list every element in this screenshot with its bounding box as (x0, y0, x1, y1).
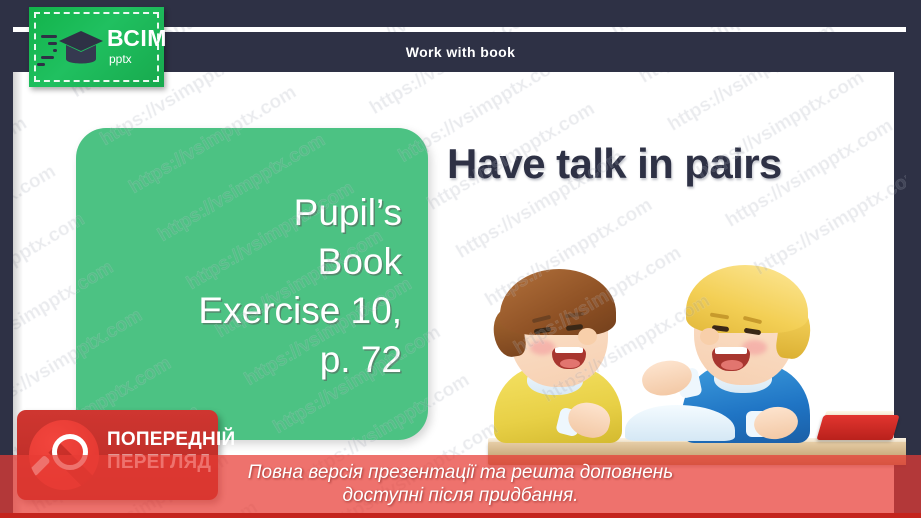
book-cover (816, 415, 899, 440)
boy-left-brown-hair (480, 243, 640, 443)
boy-left-hair (500, 269, 616, 335)
frame-right-border (906, 0, 921, 518)
vsimpptx-logo[interactable]: ВСІМ pptx (29, 7, 164, 87)
boy-right-hair (686, 265, 808, 333)
frame-left-border (0, 0, 13, 518)
boy-right-nose (700, 328, 719, 345)
illustration-two-boys (470, 240, 921, 465)
preview-badge-line-1: ПОПЕРЕДНІЙ (107, 428, 235, 451)
boy-right-tongue (721, 360, 743, 370)
slide-headline: Have talk in pairs (447, 140, 909, 188)
banner-line-2: доступні після придбання. (248, 484, 673, 507)
purchase-banner-text: Повна версія презентації та решта доповн… (248, 461, 673, 507)
purchase-banner: Повна версія презентації та решта доповн… (0, 455, 921, 513)
logo-text-block: ВСІМ pptx (107, 27, 167, 65)
boy-left-nose (578, 328, 597, 345)
card-line-4: p. 72 (96, 335, 402, 384)
logo-sub-text: pptx (109, 53, 167, 65)
boy-left-tongue (560, 359, 580, 368)
card-line-1: Pupil’s (96, 188, 402, 237)
boy-left-teeth (555, 347, 583, 353)
banner-line-1: Повна версія презентації та решта доповн… (248, 461, 673, 484)
boy-right-teeth (715, 347, 747, 354)
header-title: Work with book (406, 44, 516, 60)
banner-bottom-strip (0, 513, 921, 518)
card-line-3: Exercise 10, (96, 286, 402, 335)
pupils-book-card: Pupil’s Book Exercise 10, p. 72 (76, 128, 428, 440)
red-book-icon (820, 409, 900, 443)
logo-main-text: ВСІМ (107, 27, 167, 50)
card-line-2: Book (96, 237, 402, 286)
presentation-slide: Pupil’s Book Exercise 10, p. 72 Have tal… (0, 0, 921, 518)
graduation-cap-icon (59, 29, 103, 69)
